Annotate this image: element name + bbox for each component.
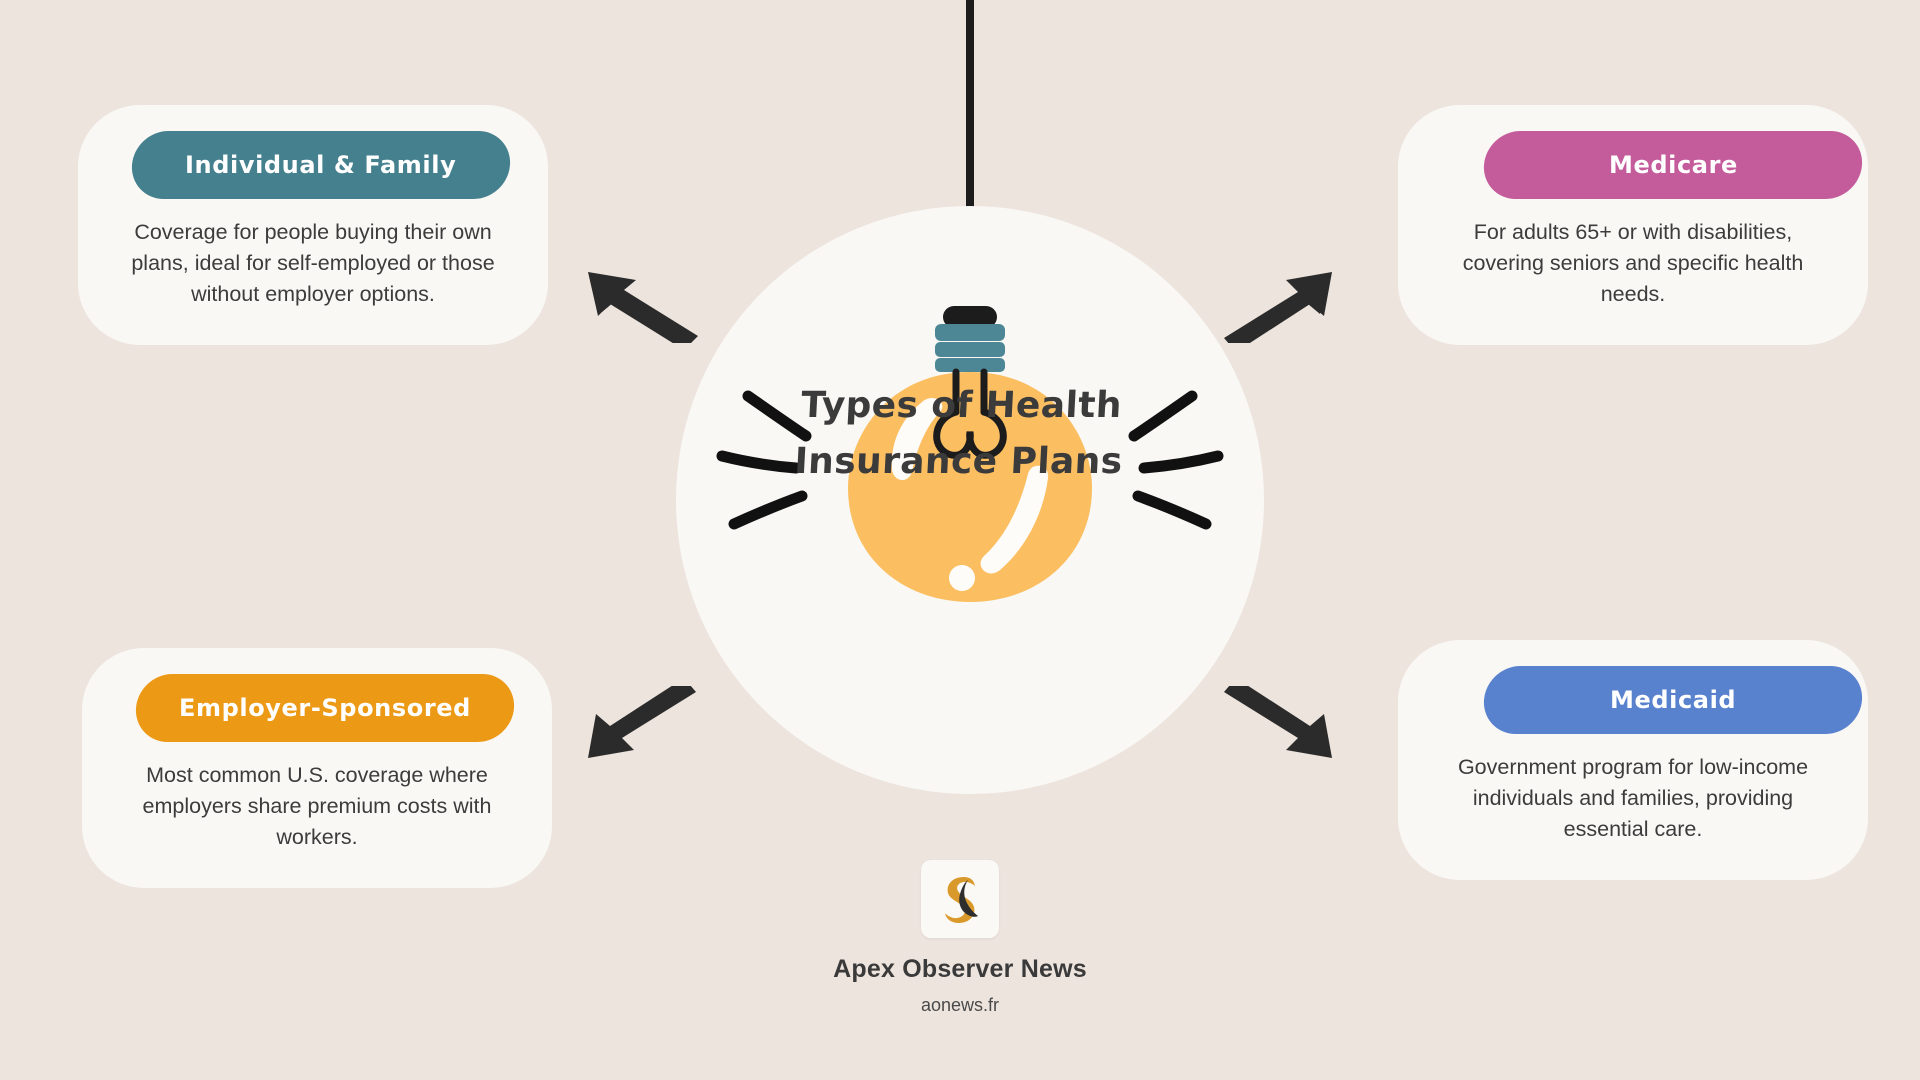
card-label-text: Employer-Sponsored — [179, 694, 471, 722]
card-label-text: Individual & Family — [185, 151, 456, 179]
page-title-line-1: Types of Health — [0, 378, 1920, 434]
arrow-top-left — [580, 268, 700, 348]
site-url: aonews.fr — [921, 995, 999, 1016]
card-label-medicaid[interactable]: Medicaid — [1482, 666, 1865, 734]
card-description-employer-sponsored: Most common U.S. coverage where employer… — [116, 760, 518, 854]
card-medicaid[interactable]: Medicaid Government program for low-inco… — [1398, 640, 1868, 880]
arrow-bottom-left — [580, 686, 700, 766]
brand-name: Apex Observer News — [833, 955, 1087, 984]
arrow-bottom-right — [1222, 686, 1342, 766]
footer: Apex Observer News aonews.fr — [0, 860, 1920, 1016]
page-title-line-2: Insurance Plans — [0, 434, 1920, 490]
infographic-canvas: Types of Health Insurance Plans Individ — [0, 0, 1920, 1080]
card-description-individual-family: Coverage for people buying their own pla… — [112, 217, 514, 311]
card-label-text: Medicare — [1609, 151, 1738, 179]
card-description-medicaid: Government program for low-income indivi… — [1432, 752, 1834, 846]
apex-observer-logo[interactable] — [921, 860, 999, 938]
card-label-medicare[interactable]: Medicare — [1482, 131, 1865, 199]
card-label-individual-family[interactable]: Individual & Family — [130, 131, 513, 199]
arrow-top-right — [1222, 268, 1342, 348]
page-title: Types of Health Insurance Plans — [0, 378, 1920, 490]
card-individual-family[interactable]: Individual & Family Coverage for people … — [78, 105, 548, 345]
card-employer-sponsored[interactable]: Employer-Sponsored Most common U.S. cove… — [82, 648, 552, 888]
lightbulb-icon — [676, 206, 1264, 794]
card-description-medicare: For adults 65+ or with disabilities, cov… — [1432, 217, 1834, 311]
card-label-text: Medicaid — [1610, 686, 1736, 714]
card-medicare[interactable]: Medicare For adults 65+ or with disabili… — [1398, 105, 1868, 345]
card-label-employer-sponsored[interactable]: Employer-Sponsored — [134, 674, 517, 742]
